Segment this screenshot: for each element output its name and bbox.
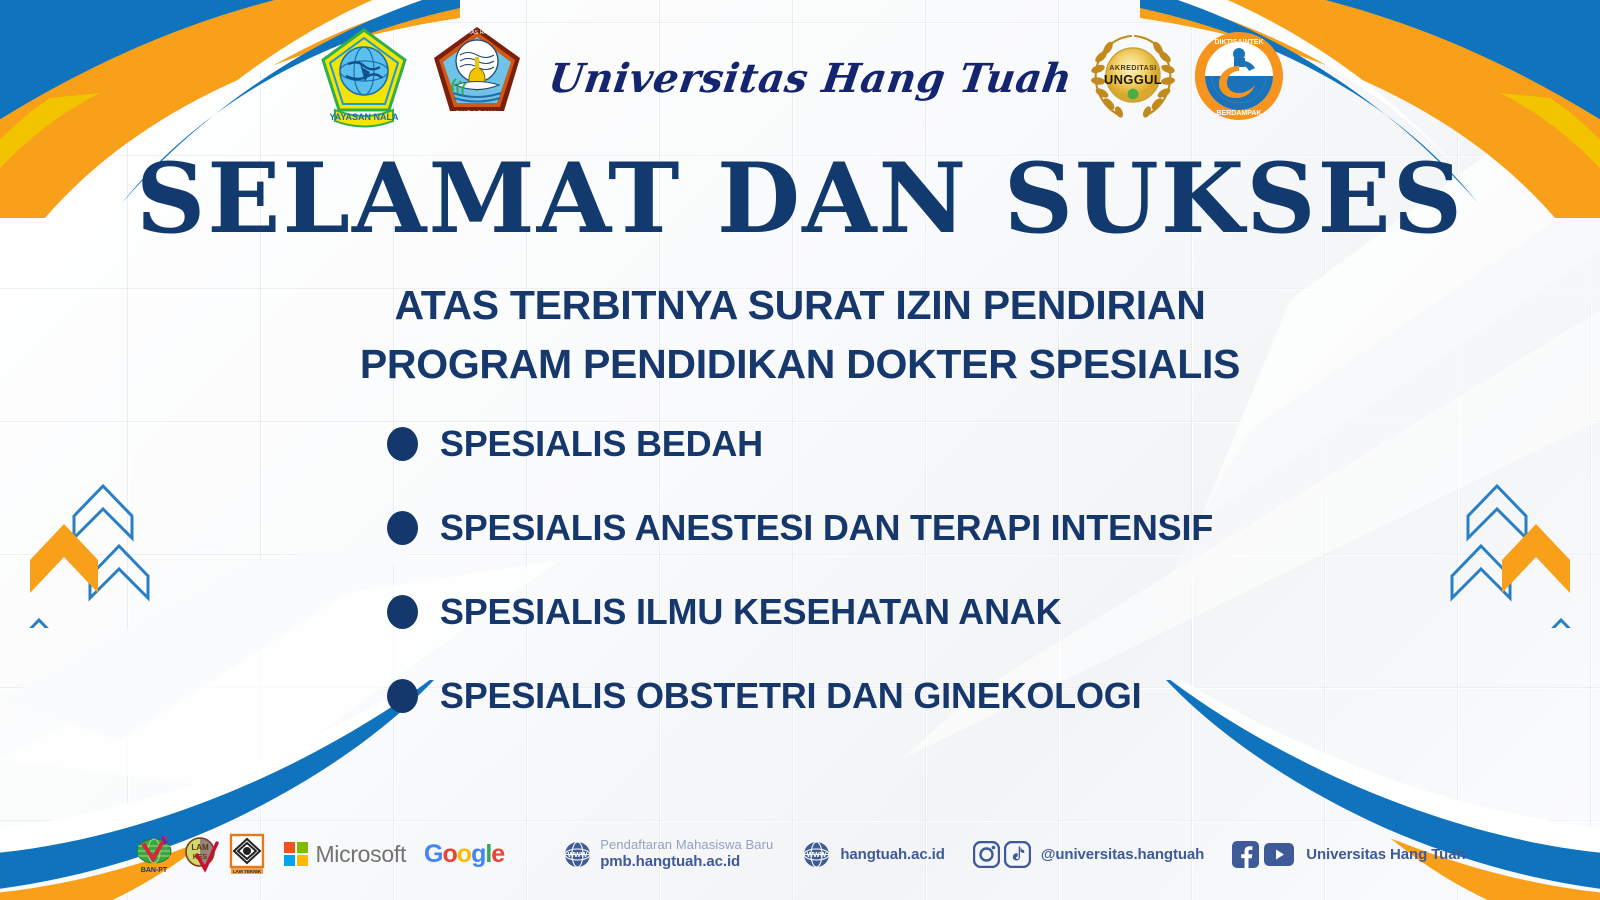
diktisaintek-label: DIKTISAINTEK [1215, 39, 1264, 46]
universitas-hang-tuah-wordmark: Universitas Hang Tuah [545, 55, 1074, 102]
pmb-block[interactable]: WWW Pendaftaran Mahasiswa Baru pmb.hangt… [564, 837, 773, 872]
universitas-hang-tuah-seal: UNIVERSITAS HANG TUAH SURABAYA [427, 23, 527, 134]
subtitle-block: ATAS TERBITNYA SURAT IZIN PENDIRIAN PROG… [0, 276, 1600, 395]
yayasan-nala-logo: YAYASAN NALA [315, 24, 413, 133]
pmb-url[interactable]: pmb.hangtuah.ac.id [600, 853, 773, 872]
diktisaintek-berdampak-badge: DIKTISAINTEK BERDAMPAK [1193, 30, 1285, 127]
social-page-block[interactable]: Universitas Hang Tuah [1232, 841, 1465, 868]
program-label: SPESIALIS OBSTETRI DAN GINEKOLOGI [440, 675, 1141, 717]
akreditasi-unggul-badge: AKREDITASI UNGGUL [1085, 27, 1181, 130]
facebook-icon[interactable] [1232, 841, 1259, 868]
youtube-icon[interactable] [1264, 843, 1294, 866]
page-title: SELAMAT DAN SUKSES [0, 150, 1600, 248]
list-item: SPESIALIS OBSTETRI DAN GINEKOLOGI [387, 675, 1213, 717]
list-item: SPESIALIS ANESTESI DAN TERAPI INTENSIF [387, 507, 1213, 549]
globe-www-icon: WWW [803, 841, 830, 868]
globe-www-icon: WWW [564, 841, 591, 868]
bullet-icon [387, 595, 418, 629]
google-logo: Google [406, 840, 504, 869]
subtitle-line-2: PROGRAM PENDIDIKAN DOKTER SPESIALIS [0, 335, 1600, 394]
header-logo-row: YAYASAN NALA UNIVERSITAS HANG TUAH SURAB… [0, 22, 1600, 134]
main-content: SELAMAT DAN SUKSES ATAS TERBITNYA SURAT … [0, 150, 1600, 718]
yayasan-nala-caption: YAYASAN NALA [329, 112, 399, 122]
ban-pt-caption: BAN-PT [141, 867, 168, 874]
program-label: SPESIALIS ANESTESI DAN TERAPI INTENSIF [440, 507, 1213, 549]
svg-text:LAM: LAM [192, 843, 210, 852]
seal-caption: UNIVERSITAS HANG TUAH [444, 30, 510, 36]
website-url[interactable]: hangtuah.ac.id [840, 846, 944, 863]
ban-pt-logo: BAN-PT [134, 833, 174, 875]
footer-bar: BAN-PT LAM KES LAM TEKNIK [0, 830, 1600, 878]
svg-text:WWW: WWW [807, 852, 827, 859]
program-list: SPESIALIS BEDAH SPESIALIS ANESTESI DAN T… [387, 423, 1213, 717]
lam-teknik-logo: LAM TEKNIK [228, 833, 266, 875]
google-label: Google [424, 840, 504, 869]
instagram-icon[interactable] [973, 841, 1000, 868]
lam-ptkes-logo: LAM KES [181, 833, 221, 875]
bullet-icon [387, 511, 418, 545]
program-label: SPESIALIS ILMU KESEHATAN ANAK [440, 591, 1062, 633]
svg-text:WWW: WWW [568, 852, 588, 859]
seal-city: SURABAYA [455, 111, 498, 117]
microsoft-logo: Microsoft [284, 841, 406, 868]
list-item: SPESIALIS ILMU KESEHATAN ANAK [387, 591, 1213, 633]
unggul-label: UNGGUL [1104, 72, 1162, 87]
program-label: SPESIALIS BEDAH [440, 423, 763, 465]
poster-canvas: YAYASAN NALA UNIVERSITAS HANG TUAH SURAB… [0, 0, 1600, 900]
microsoft-squares-icon [284, 842, 308, 866]
akreditasi-label: AKREDITASI [1110, 63, 1157, 72]
social-handle-label[interactable]: @universitas.hangtuah [1041, 846, 1204, 863]
bullet-icon [387, 679, 418, 713]
bullet-icon [387, 427, 418, 461]
website-block[interactable]: WWW hangtuah.ac.id [803, 841, 944, 868]
social-handle-block[interactable]: @universitas.hangtuah [973, 841, 1204, 868]
tiktok-icon[interactable] [1004, 841, 1031, 868]
berdampak-label: BERDAMPAK [1217, 110, 1262, 117]
subtitle-line-1: ATAS TERBITNYA SURAT IZIN PENDIRIAN [0, 276, 1600, 335]
microsoft-label: Microsoft [315, 841, 406, 868]
pmb-caption: Pendaftaran Mahasiswa Baru [600, 837, 773, 853]
lam-teknik-caption: LAM TEKNIK [233, 869, 262, 874]
social-page-label[interactable]: Universitas Hang Tuah [1306, 846, 1465, 863]
list-item: SPESIALIS BEDAH [387, 423, 1213, 465]
